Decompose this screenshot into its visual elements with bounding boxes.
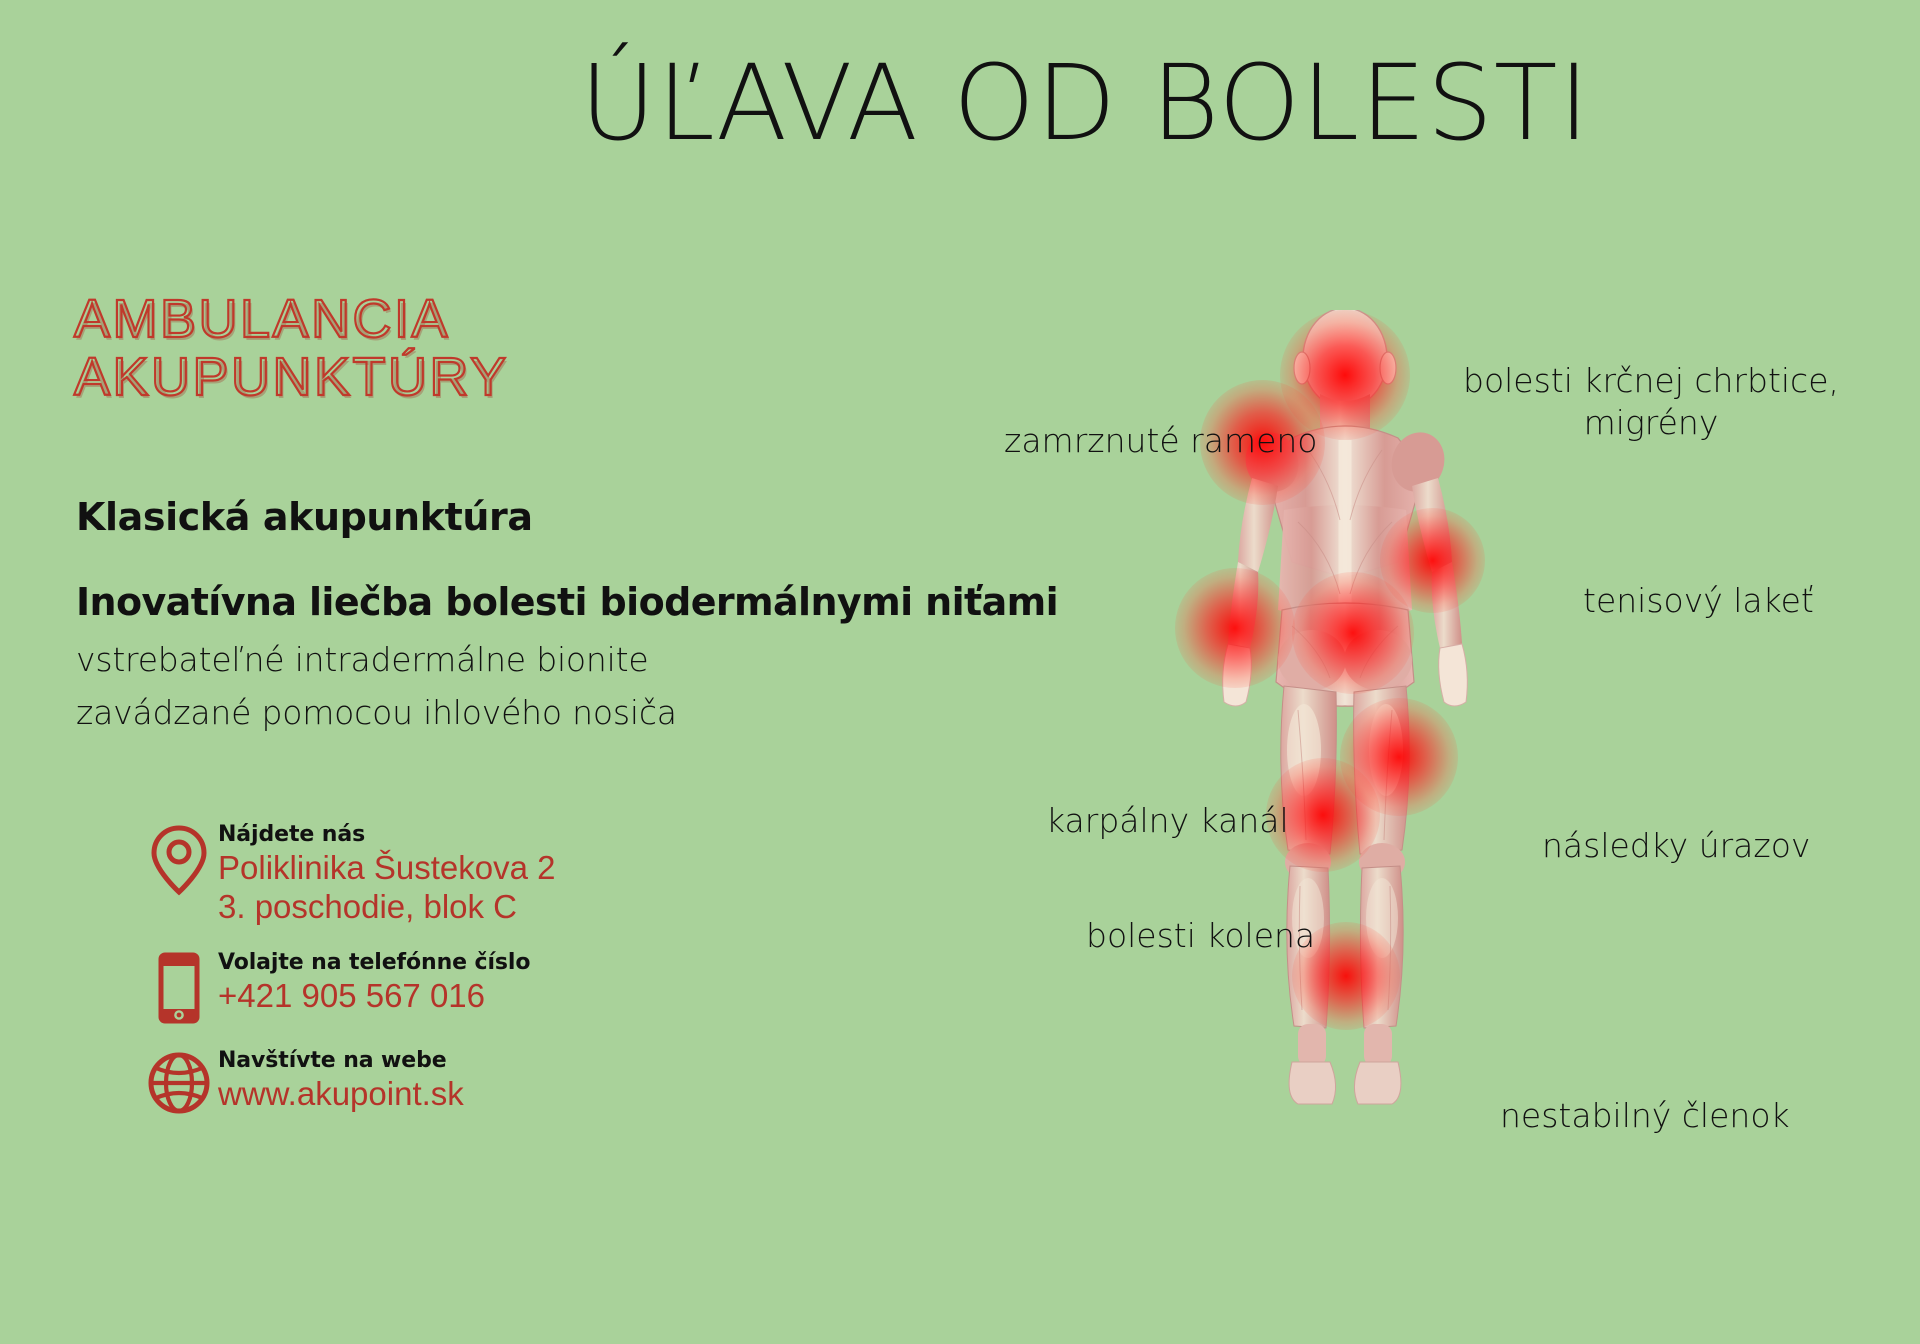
contact-value-web: www.akupoint.sk bbox=[218, 1074, 464, 1113]
contact-row-web[interactable]: Navštívte na webe www.akupoint.sk bbox=[140, 1046, 760, 1116]
contact-value-address-line-1: Poliklinika Šustekova 2 bbox=[218, 848, 556, 887]
anatomy-label-ankle: nestabilný členok bbox=[1500, 1095, 1790, 1137]
contact-block: Nájdete nás Poliklinika Šustekova 2 3. p… bbox=[140, 820, 760, 1138]
contact-row-phone[interactable]: Volajte na telefónne číslo +421 905 567 … bbox=[140, 948, 760, 1024]
service-body-line-1: vstrebateľné intradermálne bionite bbox=[76, 640, 648, 679]
page-title: ÚĽAVA OD BOLESTI bbox=[0, 42, 1920, 164]
globe-icon bbox=[140, 1046, 218, 1116]
anatomy-label-shoulder: zamrznuté rameno bbox=[1004, 420, 1317, 462]
contact-label-phone: Volajte na telefónne číslo bbox=[218, 950, 530, 976]
contact-value-phone: +421 905 567 016 bbox=[218, 976, 530, 1015]
contact-label-address: Nájdete nás bbox=[218, 822, 556, 848]
poster-root: ÚĽAVA OD BOLESTI AMBULANCIA AKUPUNKTÚRY … bbox=[0, 0, 1920, 1344]
contact-label-web: Navštívte na webe bbox=[218, 1048, 464, 1074]
anatomy-label-knee: bolesti kolena bbox=[1086, 915, 1315, 957]
brand-line-2: AKUPUNKTÚRY bbox=[74, 348, 509, 406]
anatomy-label-injury: následky úrazov bbox=[1542, 825, 1810, 867]
service-body-line-2: zavádzané pomocou ihlového nosiča bbox=[76, 693, 677, 732]
brand-wordmark: AMBULANCIA AKUPUNKTÚRY bbox=[74, 290, 509, 406]
anatomy-label-elbow: tenisový lakeť bbox=[1583, 580, 1814, 622]
service-heading-innovative: Inovatívna liečba bolesti biodermálnymi … bbox=[76, 580, 1058, 624]
phone-icon bbox=[140, 948, 218, 1024]
service-heading-classic: Klasická akupunktúra bbox=[76, 495, 533, 539]
contact-row-address[interactable]: Nájdete nás Poliklinika Šustekova 2 3. p… bbox=[140, 820, 760, 926]
brand-line-1: AMBULANCIA bbox=[74, 290, 509, 348]
anatomy-label-carpal: karpálny kanál bbox=[1046, 800, 1289, 842]
anatomy-label-neck: bolesti krčnej chrbtice, migrény bbox=[1463, 360, 1839, 444]
location-pin-icon bbox=[140, 820, 218, 896]
contact-value-address-line-2: 3. poschodie, blok C bbox=[218, 887, 556, 926]
